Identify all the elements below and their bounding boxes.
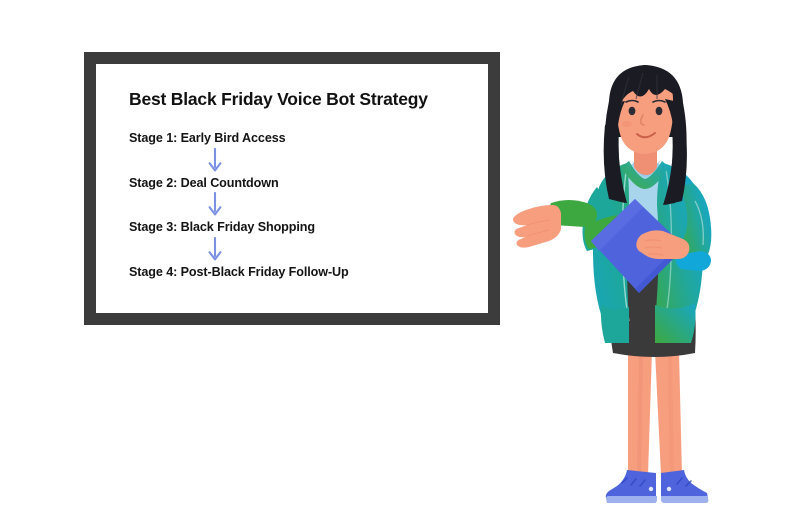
arrow-down-icon xyxy=(205,192,225,218)
arrow-down-icon xyxy=(205,237,225,263)
flow-step-1: Stage 1: Early Bird Access xyxy=(129,131,458,145)
strategy-flow-list: Stage 1: Early Bird Access Stage 2: Deal… xyxy=(129,131,458,279)
board-frame: Best Black Friday Voice Bot Strategy Sta… xyxy=(84,52,500,325)
flow-step-3: Stage 3: Black Friday Shopping xyxy=(129,220,458,234)
left-hand-open-palm xyxy=(513,205,561,248)
arrow-down-icon xyxy=(205,148,225,174)
flow-step-2: Stage 2: Deal Countdown xyxy=(129,176,458,190)
flow-connector-2 xyxy=(129,190,458,220)
eye-left xyxy=(629,107,636,115)
shoes xyxy=(606,470,708,503)
eye-right xyxy=(656,107,663,115)
legs xyxy=(628,351,682,483)
flow-step-4: Stage 4: Post-Black Friday Follow-Up xyxy=(129,265,458,279)
woman-presenter-illustration xyxy=(505,55,735,507)
board-panel: Best Black Friday Voice Bot Strategy Sta… xyxy=(96,64,488,313)
page-title: Best Black Friday Voice Bot Strategy xyxy=(129,90,458,109)
flow-connector-1 xyxy=(129,146,458,176)
flow-connector-3 xyxy=(129,235,458,265)
